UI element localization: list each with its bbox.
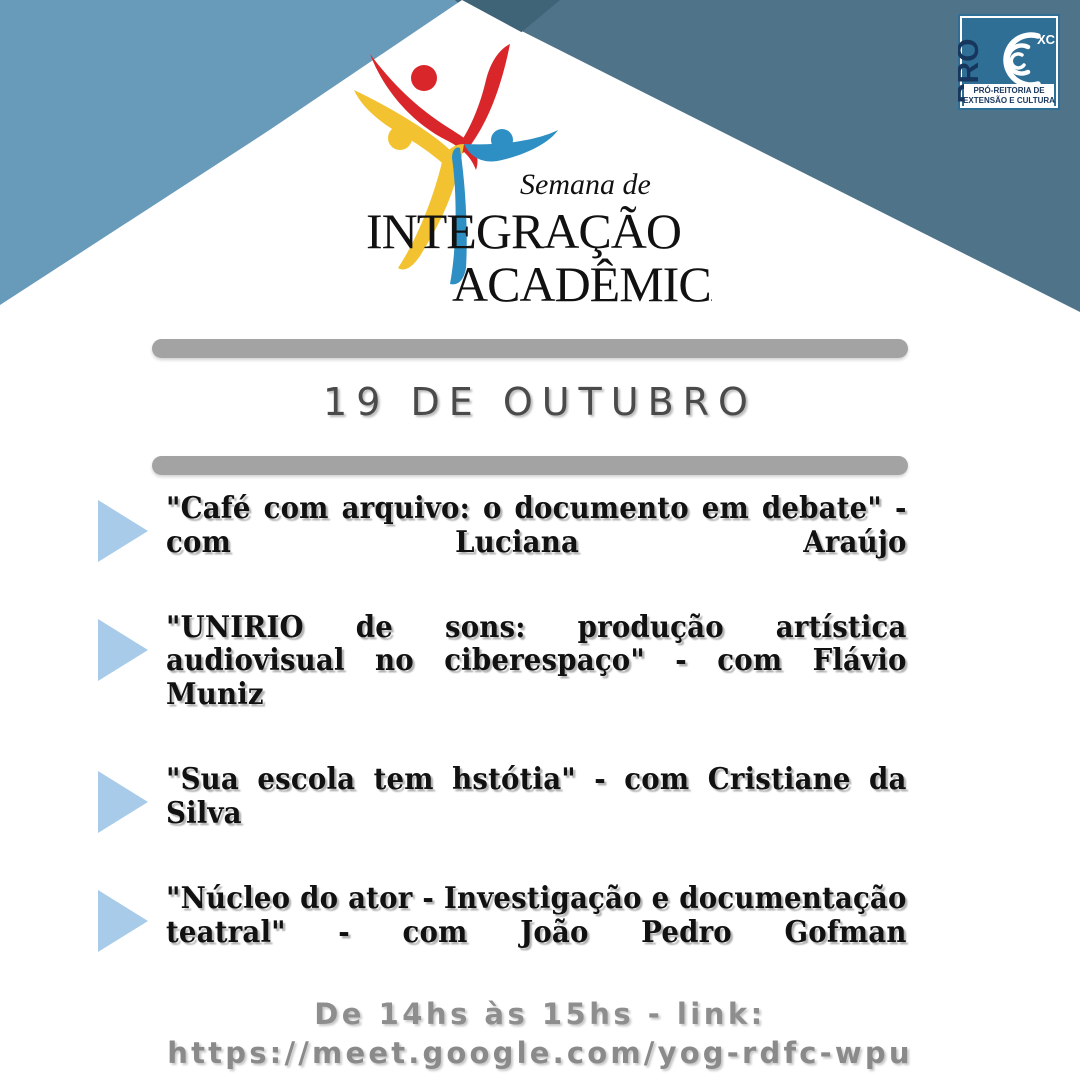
list-item: "UNIRIO de sons: produção artística audi… <box>0 611 1080 745</box>
session-text: "Café com arquivo: o documento em debate… <box>166 492 907 593</box>
date-rule-bottom <box>152 456 908 475</box>
session-text: "Sua escola tem hstótia" - com Cristiane… <box>166 763 907 864</box>
poster-canvas: PRO XC PRÓ-REITORIA DE EXTENSÃO E CULTUR… <box>0 0 1080 1080</box>
proexc-caption-line1: PRÓ-REITORIA DE <box>973 86 1045 95</box>
session-text: "UNIRIO de sons: produção artística audi… <box>166 611 907 745</box>
proexc-xc-mark: XC <box>1037 32 1056 47</box>
list-item: "Sua escola tem hstótia" - com Cristiane… <box>0 763 1080 864</box>
proexc-caption-line2: EXTENSÃO E CULTURA <box>963 96 1055 105</box>
proexc-logo: PRO XC PRÓ-REITORIA DE EXTENSÃO E CULTUR… <box>958 14 1060 110</box>
triangle-right-icon <box>98 890 148 952</box>
triangle-right-icon <box>98 619 148 681</box>
date-heading: 19 DE OUTUBRO <box>0 380 1080 424</box>
meeting-link[interactable]: https://meet.google.com/yog-rdfc-wpu <box>0 1034 1080 1073</box>
event-logo: Semana de INTEGRAÇÃO ACADÊMICA <box>352 18 712 318</box>
date-label: 19 DE OUTUBRO <box>323 380 757 424</box>
logo-title-line2: ACADÊMICA <box>452 256 712 312</box>
logo-kicker: Semana de <box>520 168 651 201</box>
list-item: "Núcleo do ator - Investigação e documen… <box>0 882 1080 983</box>
date-rule-top <box>152 339 908 358</box>
footer: De 14hs às 15hs - link: https://meet.goo… <box>0 995 1080 1073</box>
triangle-right-icon <box>98 771 148 833</box>
footer-time-label: De 14hs às 15hs - link: <box>0 995 1080 1034</box>
session-text: "Núcleo do ator - Investigação e documen… <box>166 882 907 983</box>
session-list: "Café com arquivo: o documento em debate… <box>0 492 1080 1001</box>
logo-title-line1: INTEGRAÇÃO <box>366 203 681 259</box>
list-item: "Café com arquivo: o documento em debate… <box>0 492 1080 593</box>
triangle-right-icon <box>98 500 148 562</box>
